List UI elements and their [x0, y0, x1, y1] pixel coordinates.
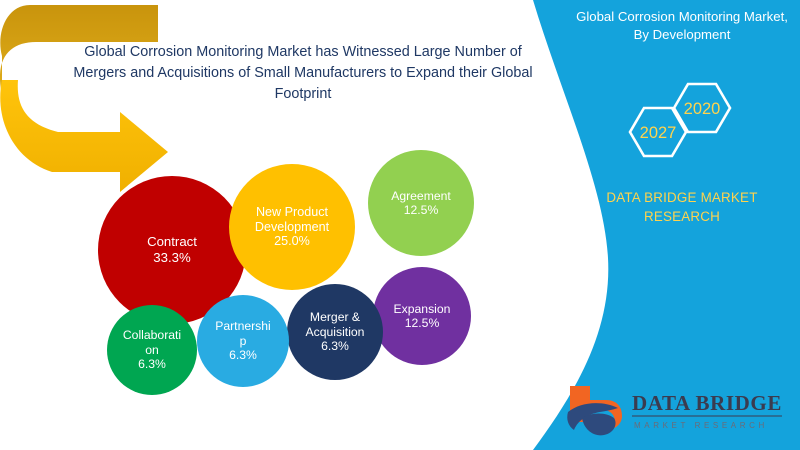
- bubble-collaboration[interactable]: Collaboration 6.3%: [107, 305, 197, 395]
- bubble-chart: Contract 33.3% New ProductDevelopment 25…: [0, 0, 540, 450]
- sidebar-panel: [500, 0, 800, 450]
- infographic-canvas: Global Corrosion Monitoring Market has W…: [0, 0, 800, 450]
- bubble-label: Collaboration: [123, 328, 181, 357]
- bubble-value: 12.5%: [405, 316, 440, 330]
- bubble-value: 6.3%: [229, 348, 257, 362]
- bubble-label: Merger &Acquisition: [306, 310, 365, 339]
- bubble-label: Partnership: [215, 319, 271, 348]
- bubble-partnership[interactable]: Partnership 6.3%: [197, 295, 289, 387]
- bubble-agreement[interactable]: Agreement 12.5%: [368, 150, 474, 256]
- bubble-value: 25.0%: [274, 234, 310, 249]
- bubble-label: Agreement: [391, 189, 451, 203]
- bubble-value: 12.5%: [404, 203, 439, 217]
- bubble-merger-and-acquisition[interactable]: Merger &Acquisition 6.3%: [287, 284, 383, 380]
- bubble-label: New ProductDevelopment: [255, 205, 329, 235]
- bubble-label: Expansion: [394, 302, 451, 316]
- bubble-value: 6.3%: [321, 339, 349, 353]
- bubble-new-product-development[interactable]: New ProductDevelopment 25.0%: [229, 164, 355, 290]
- bubble-label: Contract: [147, 234, 197, 250]
- bubble-expansion[interactable]: Expansion 12.5%: [373, 267, 471, 365]
- bubble-value: 33.3%: [153, 250, 190, 266]
- bubble-value: 6.3%: [138, 357, 166, 371]
- sidebar-shape: [533, 0, 800, 450]
